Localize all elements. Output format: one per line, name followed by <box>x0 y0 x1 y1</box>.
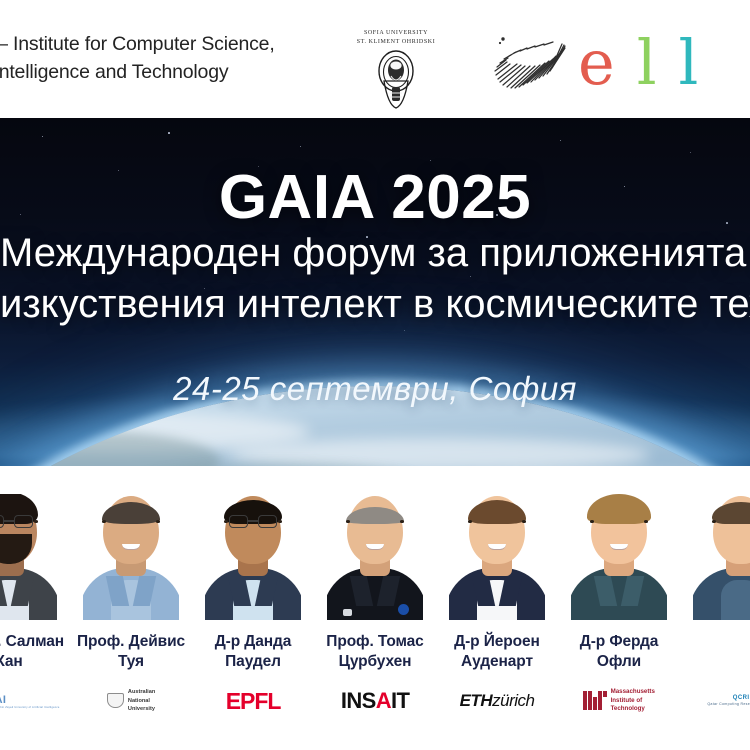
qcri-sub: Qatar Computing Research Institute <box>707 701 750 707</box>
insait-logo: INSAIT <box>314 678 436 724</box>
anu-label: AustralianNationalUniversity <box>128 688 155 713</box>
speaker-name-line2: Туя <box>70 652 192 672</box>
mbzuai-logo: MBZUAIMohamed bin Zayed University of Ar… <box>0 678 70 724</box>
anu-crest-icon <box>107 693 124 708</box>
sofia-university-line1: SOFIA UNIVERSITY <box>341 29 451 38</box>
portrait-devis-tuia <box>83 494 179 620</box>
shirt-badge-icon <box>343 609 352 616</box>
speaker-name-line1: Проф. Томас <box>314 632 436 652</box>
hero-banner: GAIA 2025 Международен форум за приложен… <box>0 118 750 466</box>
portrait-danda-paudel <box>205 494 301 620</box>
eyeglasses-icon <box>0 515 33 528</box>
portrait-extra <box>693 494 750 620</box>
sofia-university-logo: SOFIA UNIVERSITY ST. KLIMENT OHRIDSKI <box>341 29 451 109</box>
nasa-badge-icon <box>398 604 409 615</box>
portrait-salman-khan <box>0 494 57 620</box>
insait-label: INSAIT <box>341 688 410 714</box>
speaker-name-line1: Д-р Данда <box>192 632 314 652</box>
sofia-university-seal-icon <box>368 47 424 109</box>
speaker-card[interactable]: Проф. Дейвис Туя AustralianNationalUnive… <box>70 466 192 673</box>
sponsor-logo-bar: INSAIT — Institute for Computer Science,… <box>0 0 750 118</box>
insait-wordmark-line2: Artificial Intelligence and Technology <box>0 59 322 87</box>
speaker-name-line2: Офли <box>558 652 680 672</box>
speaker-card[interactable]: Д-р Йероен Ауденарт ETHzürich <box>436 466 558 673</box>
speaker-name-line2: Ауденарт <box>436 652 558 672</box>
speaker-name-line1: Д-р Йероен <box>436 632 558 652</box>
ellis-europe-map-icon <box>490 33 580 95</box>
epfl-logo: EPFL <box>192 678 314 724</box>
event-subtitle: Международен форум за приложенията на из… <box>0 228 750 330</box>
speaker-name: Д-р Данда Паудел <box>192 632 314 673</box>
speaker-name-line1: Проф. Дейвис <box>70 632 192 652</box>
ellis-letters: ell <box>578 32 720 94</box>
sofia-university-caption: SOFIA UNIVERSITY ST. KLIMENT OHRIDSKI <box>341 29 451 48</box>
eth-zurich-logo: ETHzürich <box>436 678 558 724</box>
anu-logo: AustralianNationalUniversity <box>70 678 192 724</box>
speaker-card[interactable]: Проф. Томас Цурбухен INSAIT <box>314 466 436 673</box>
speaker-name-line2: Кан <box>0 652 70 672</box>
speaker-card[interactable]: Д-р Данда Паудел EPFL <box>192 466 314 673</box>
event-poster: INSAIT — Institute for Computer Science,… <box>0 0 750 750</box>
mit-bars-icon <box>583 691 606 710</box>
ellis-logo: ell <box>470 28 750 100</box>
event-title: GAIA 2025 <box>0 162 750 233</box>
mit-label: MassachusettsInstitute ofTechnology <box>611 688 655 715</box>
event-date-location: 24-25 септември, София <box>0 370 750 408</box>
portrait-jeroen-audenaert <box>449 494 545 620</box>
speaker-name-line2: Паудел <box>192 652 314 672</box>
insait-wordmark: INSAIT — Institute for Computer Science,… <box>0 31 322 86</box>
speaker-name: Проф. Салман Кан <box>0 632 70 673</box>
speaker-name-line2: Цурбухен <box>314 652 436 672</box>
speaker-name: Д-р Ферда Офли <box>558 632 680 673</box>
speaker-name: Проф. Дейвис Туя <box>70 632 192 673</box>
speaker-name: Проф. Томас Цурбухен <box>314 632 436 673</box>
speaker-card[interactable]: Д-р Ферда Офли MassachusettsInstitute of… <box>558 466 680 673</box>
event-subtitle-line2: изкуствения интелект в космическите техн… <box>0 279 750 330</box>
eyeglasses-icon <box>229 515 277 528</box>
speaker-name-line1: Проф. Салман <box>0 632 70 652</box>
speaker-name-line1: Д-р Ферда <box>558 632 680 652</box>
speakers-row: Проф. Салман Кан MBZUAIMohamed bin Zayed… <box>0 466 750 750</box>
qcri-logo: QCRI Qatar Computing Research Institute <box>680 678 750 724</box>
mit-logo: MassachusettsInstitute ofTechnology <box>558 678 680 724</box>
event-subtitle-line1: Международен форум за приложенията на <box>0 228 750 279</box>
mbzuai-sub: Mohamed bin Zayed University of Artifici… <box>0 706 60 709</box>
portrait-ferda-ofli <box>571 494 667 620</box>
epfl-label: EPFL <box>226 688 281 715</box>
speakers-section: Проф. Салман Кан MBZUAIMohamed bin Zayed… <box>0 466 750 750</box>
speaker-card[interactable]: Проф. Салман Кан MBZUAIMohamed bin Zayed… <box>0 466 70 673</box>
portrait-thomas-zurbuchen <box>327 494 423 620</box>
speaker-card[interactable]: QCRI Qatar Computing Research Institute <box>680 466 750 632</box>
speaker-name: Д-р Йероен Ауденарт <box>436 632 558 673</box>
insait-wordmark-line1: INSAIT — Institute for Computer Science, <box>0 31 322 59</box>
eth-zurich-label: ETHzürich <box>460 691 535 711</box>
